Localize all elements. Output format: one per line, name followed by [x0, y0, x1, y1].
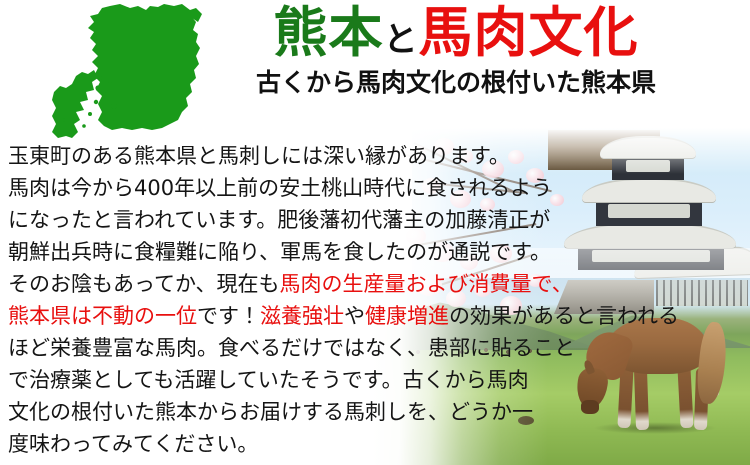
body-text-run: ほど栄養豊富な馬肉。食べるだけではなく、患部に貼ること [8, 336, 575, 360]
body-line: 文化の根付いた熊本からお届けする馬刺しを、どうか一 [8, 396, 744, 428]
body-line: そのお陰もあってか、現在も馬肉の生産量および消費量で、 [8, 268, 744, 300]
body-text-run: 玉東町のある熊本県と馬刺しには深い縁があります。 [8, 144, 510, 168]
body-line: 熊本県は不動の一位です！滋養強壮や健康増進の効果があると言われる [8, 300, 744, 332]
kumamoto-horse-meat-banner: 熊本と馬肉文化 古くから馬肉文化の根付いた熊本県 玉東町のある熊本県と馬刺しには… [0, 0, 750, 465]
body-text-run: 度味わってみてください。 [8, 432, 258, 456]
body-text-run: です！ [197, 304, 260, 328]
body-text-highlight: 熊本県は不動の一位 [8, 304, 197, 328]
body-text-highlight: 健康増進 [365, 304, 449, 328]
body-text-run: になったと言われています。肥後藩初代藩主の加藤清正が [8, 208, 550, 232]
title-part-red: 馬肉文化 [419, 0, 639, 64]
kumamoto-prefecture-map [46, 4, 214, 140]
body-line: で治療薬としても活躍していたそうです。古くから馬肉 [8, 364, 744, 396]
body-copy: 玉東町のある熊本県と馬刺しには深い縁があります。馬肉は今から400年以上前の安土… [8, 140, 744, 460]
body-line: 朝鮮出兵時に食糧難に陥り、軍馬を食したのが通説です。 [8, 236, 744, 268]
body-text-run: 文化の根付いた熊本からお届けする馬刺しを、どうか一 [8, 400, 533, 424]
body-text-run: や [344, 304, 365, 328]
body-line: になったと言われています。肥後藩初代藩主の加藤清正が [8, 204, 744, 236]
page-subtitle: 古くから馬肉文化の根付いた熊本県 [236, 63, 676, 99]
body-line: 玉東町のある熊本県と馬刺しには深い縁があります。 [8, 140, 744, 172]
title-block: 熊本と馬肉文化 古くから馬肉文化の根付いた熊本県 [236, 4, 676, 99]
body-line: 馬肉は今から400年以上前の安土桃山時代に食されるよう [8, 172, 744, 204]
page-title: 熊本と馬肉文化 [236, 4, 676, 61]
body-text-highlight: 滋養強壮 [260, 304, 344, 328]
body-text-highlight: 馬肉の生産量および消費量で、 [280, 272, 573, 296]
body-text-run: そのお陰もあってか、現在も [8, 272, 280, 296]
title-part-green: 熊本 [274, 0, 384, 64]
body-text-run: の効果があると言われる [449, 304, 679, 328]
body-line: ほど栄養豊富な馬肉。食べるだけではなく、患部に貼ること [8, 332, 744, 364]
body-line: 度味わってみてください。 [8, 428, 744, 460]
body-text-run: 馬肉は今から400年以上前の安土桃山時代に食されるよう [8, 176, 552, 200]
title-part-black: と [384, 20, 419, 60]
body-text-run: 朝鮮出兵時に食糧難に陥り、軍馬を食したのが通説です。 [8, 240, 551, 264]
body-text-run: で治療薬としても活躍していたそうです。古くから馬肉 [8, 368, 529, 392]
